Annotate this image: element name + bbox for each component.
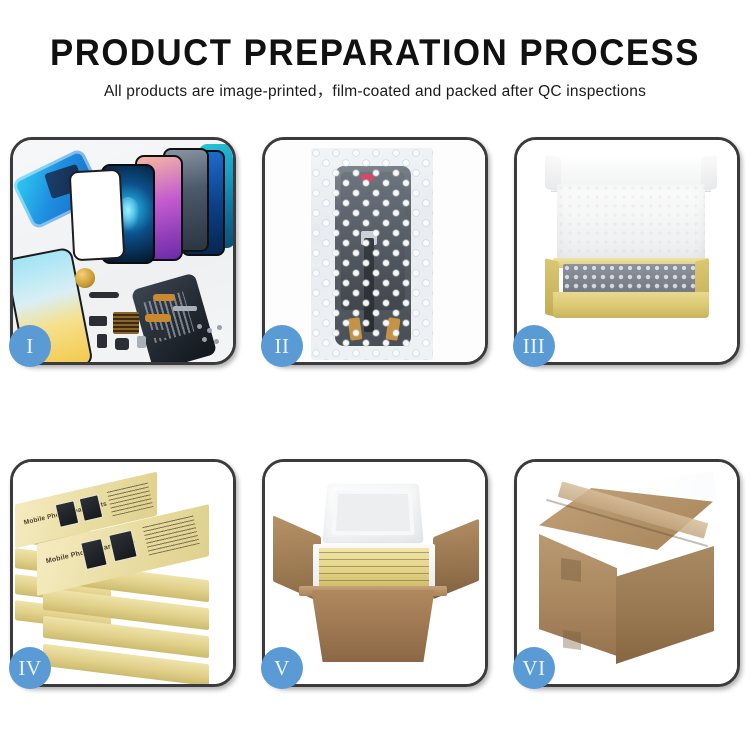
step-panel-2[interactable]: II — [262, 137, 488, 365]
camera-module-part — [115, 338, 129, 350]
step-badge-1: I — [9, 325, 51, 367]
page-subtitle: All products are image-printed，film-coat… — [0, 84, 750, 100]
step-badge-5: V — [261, 647, 303, 689]
step-badge-2: II — [261, 325, 303, 367]
step-3-image-frame — [517, 140, 737, 362]
step-panel-4[interactable]: Mobile Phone Spare Parts Mobile Phone Sp… — [10, 459, 236, 687]
spare-parts-cluster — [85, 290, 203, 360]
step-numeral-4: IV — [18, 658, 41, 679]
connector-part — [89, 316, 107, 326]
step-panel-5[interactable]: V — [262, 459, 488, 687]
product-preparation-infographic: PRODUCT PREPARATION PROCESS All products… — [0, 0, 750, 750]
step-numeral-6: VI — [522, 658, 545, 679]
process-step-grid: I — [10, 137, 740, 737]
step-1-image-frame — [13, 140, 233, 362]
step-6-image-frame — [517, 462, 737, 684]
bubble-texture — [311, 148, 433, 360]
flex-cable-part — [153, 294, 175, 301]
step-panel-6[interactable]: VI — [514, 459, 740, 687]
step-numeral-1: I — [26, 336, 34, 357]
phone-white-blank — [69, 169, 126, 262]
step-numeral-3: III — [523, 336, 545, 357]
step-panel-3[interactable]: III — [514, 137, 740, 365]
step-numeral-5: V — [274, 658, 290, 679]
carton-tab-lower — [563, 630, 581, 650]
button-part — [137, 336, 146, 348]
photo-foam-lined-box — [517, 140, 737, 362]
step-panel-1[interactable]: I — [10, 137, 236, 365]
sim-tray-part — [97, 334, 107, 348]
speaker-part — [151, 330, 167, 338]
photo-product-parts — [13, 140, 233, 362]
stacked-yellow-boxes-inside — [319, 548, 429, 588]
screws-cluster — [197, 324, 227, 348]
ic-chip-part — [113, 312, 139, 334]
white-foam-insert — [557, 184, 705, 266]
antenna-strip-part — [173, 306, 197, 311]
page-title: PRODUCT PREPARATION PROCESS — [23, 34, 728, 71]
step-4-image-frame: Mobile Phone Spare Parts Mobile Phone Sp… — [13, 462, 233, 684]
photo-carton-loading — [265, 462, 485, 684]
bubble-wrap-bag — [311, 148, 433, 360]
step-badge-4: IV — [9, 647, 51, 689]
photo-stacked-retail-boxes: Mobile Phone Spare Parts Mobile Phone Sp… — [13, 462, 233, 684]
photo-sealed-carton — [517, 462, 737, 684]
step-2-image-frame — [265, 140, 485, 362]
power-flex-part — [145, 314, 171, 322]
step-badge-6: VI — [513, 647, 555, 689]
step-5-image-frame — [265, 462, 485, 684]
vibration-motor-part — [75, 268, 95, 288]
step-badge-3: III — [513, 325, 555, 367]
carton-body — [303, 590, 443, 662]
carton-tab-upper — [561, 558, 581, 582]
carton-right-face — [616, 546, 714, 664]
box-front-panel — [553, 292, 709, 318]
foam-box-lid — [322, 484, 423, 544]
earpiece-mesh-part — [89, 292, 119, 298]
header: PRODUCT PREPARATION PROCESS All products… — [0, 0, 750, 100]
step-numeral-2: II — [275, 336, 290, 357]
photo-bubble-wrapped-lcd — [265, 140, 485, 362]
